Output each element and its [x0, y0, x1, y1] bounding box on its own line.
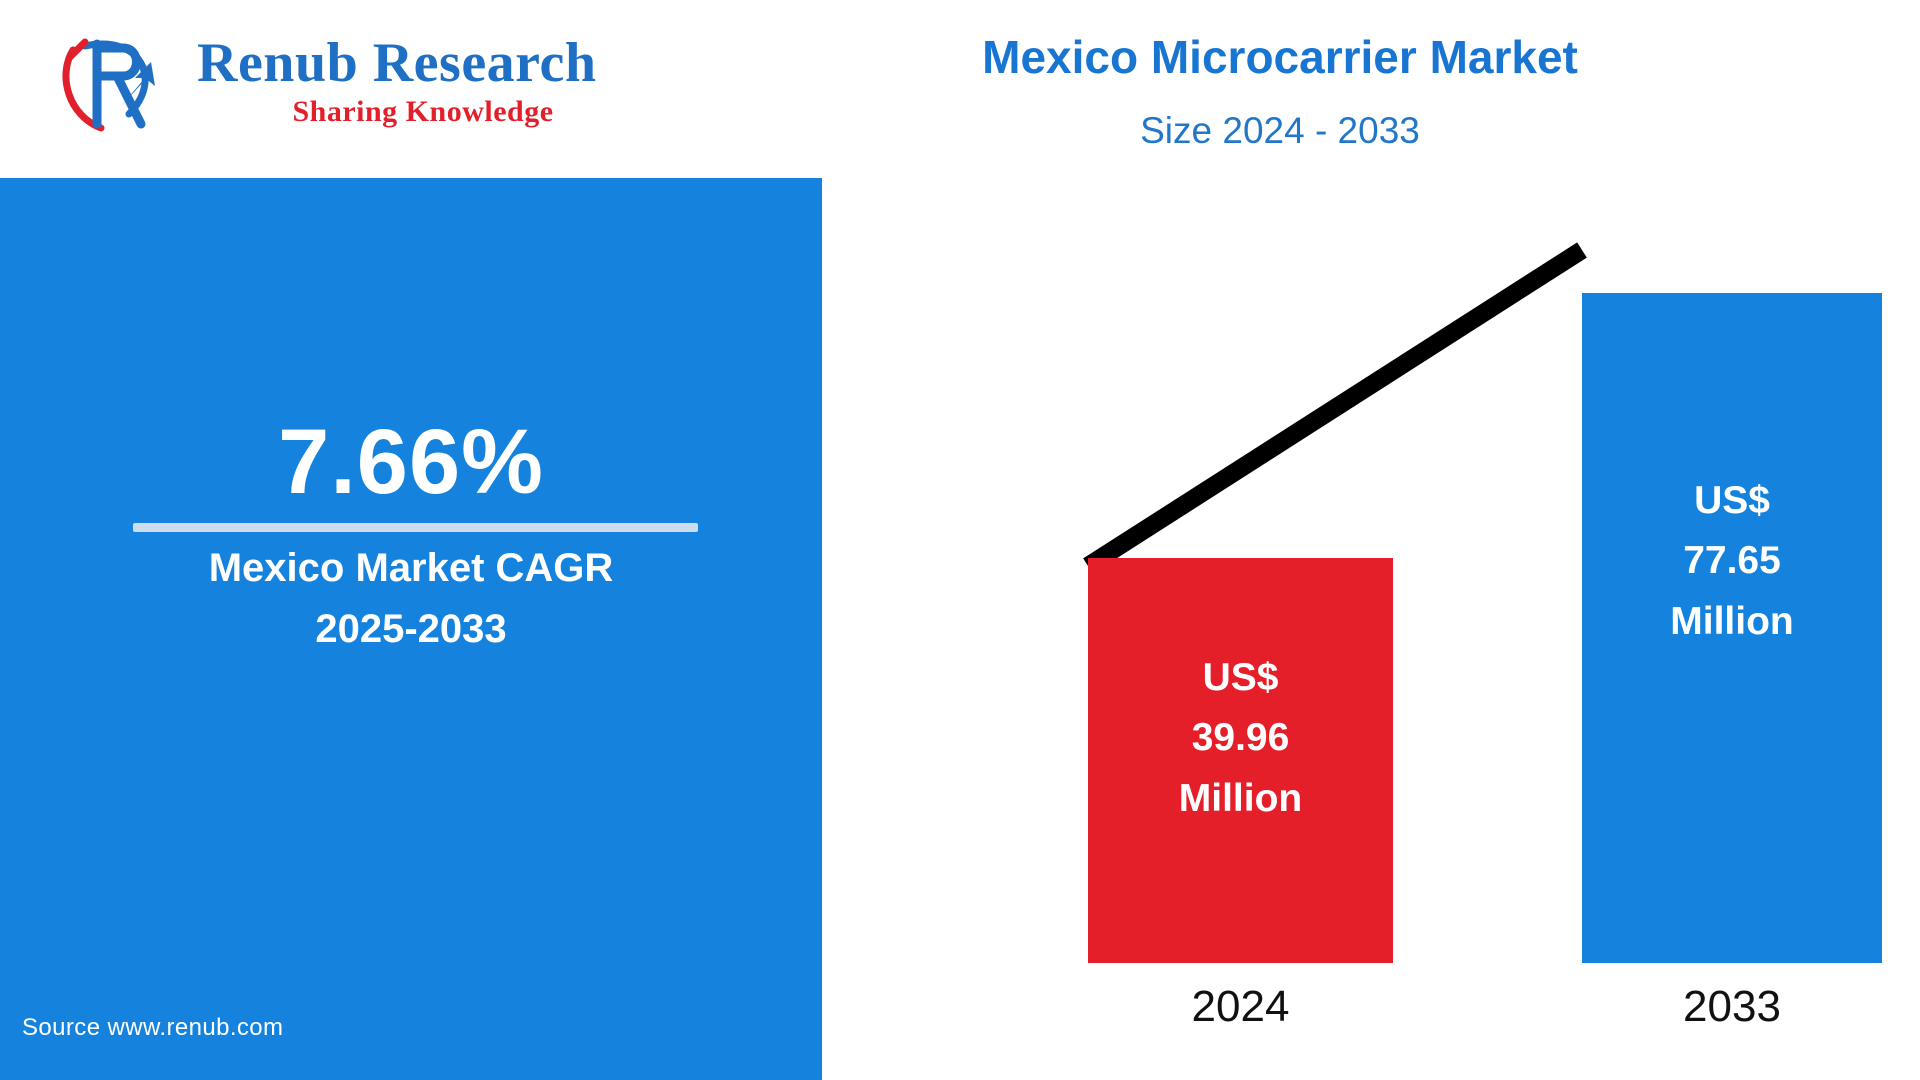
bar-2024: US$ 39.96 Million: [1088, 558, 1393, 963]
source-text: Source www.renub.com: [22, 1014, 283, 1042]
bar-2033-value-line2: 77.65: [1582, 531, 1882, 591]
cagr-label-line1: Mexico Market CAGR: [0, 538, 822, 599]
cagr-panel: 7.66% Mexico Market CAGR 2025-2033 Sourc…: [0, 178, 822, 1080]
page-subtitle: Size 2024 - 2033: [700, 110, 1860, 152]
x-axis-label-2033: 2033: [1582, 982, 1882, 1032]
brand-logo: Renub Research Sharing Knowledge: [55, 20, 675, 145]
bar-2024-value-line1: US$: [1088, 648, 1393, 708]
renub-r-logo-icon: [55, 28, 175, 138]
bar-2033-value-line3: Million: [1582, 592, 1882, 652]
bar-chart: US$ 39.96 Million US$ 77.65 Million 2024…: [822, 178, 1920, 1080]
page-title: Mexico Microcarrier Market: [700, 30, 1860, 84]
cagr-label-line2: 2025-2033: [0, 599, 822, 660]
bar-2024-value: US$ 39.96 Million: [1088, 648, 1393, 829]
cagr-divider: [133, 523, 698, 532]
bar-2033-value-line1: US$: [1582, 471, 1882, 531]
brand-tagline: Sharing Knowledge: [197, 95, 649, 129]
bar-2033-value: US$ 77.65 Million: [1582, 471, 1882, 652]
bar-2033: US$ 77.65 Million: [1582, 293, 1882, 963]
bar-2024-value-line3: Million: [1088, 769, 1393, 829]
bar-2024-value-line2: 39.96: [1088, 708, 1393, 768]
brand-name: Renub Research: [197, 34, 667, 93]
brand-logo-text: Renub Research Sharing Knowledge: [197, 34, 667, 129]
x-axis-label-2024: 2024: [1088, 982, 1393, 1032]
cagr-value: 7.66%: [0, 410, 822, 515]
cagr-label: Mexico Market CAGR 2025-2033: [0, 538, 822, 660]
infographic-page: Renub Research Sharing Knowledge Mexico …: [0, 0, 1920, 1080]
